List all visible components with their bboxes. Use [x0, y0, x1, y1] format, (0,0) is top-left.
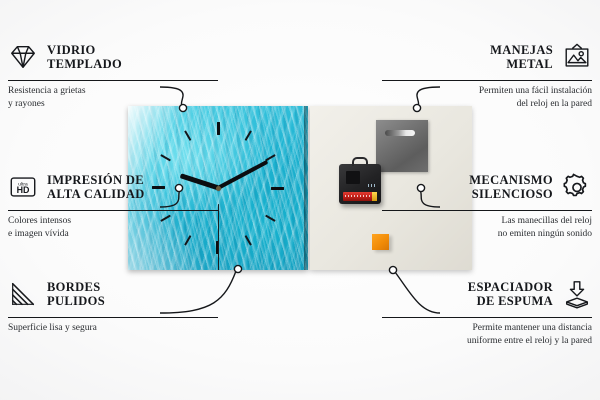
- feature-manejas-metal: MANEJAS METAL Permiten una fácil instala…: [382, 38, 592, 111]
- foam-spacer-icon: [562, 279, 592, 309]
- picture-hanger-icon: [562, 42, 592, 72]
- feature-description: Superficie lisa y segura: [8, 322, 218, 335]
- feature-description: Colores intensos e imagen vívida: [8, 215, 218, 241]
- feature-header: ultra HD IMPRESIÓN DE ALTA CALIDAD: [8, 168, 218, 206]
- feature-header: ESPACIADOR DE ESPUMA: [382, 275, 592, 313]
- feature-title-line2: ALTA CALIDAD: [47, 187, 145, 201]
- feature-title-line2: SILENCIOSO: [472, 187, 553, 201]
- feature-divider: [8, 210, 218, 211]
- feature-title-line1: BORDES: [47, 280, 101, 294]
- feature-title-line2: PULIDOS: [47, 294, 105, 308]
- feature-desc-line1: Superficie lisa y segura: [8, 323, 97, 333]
- feature-title: MANEJAS METAL: [490, 43, 553, 71]
- feature-impresion-alta-calidad: ultra HD IMPRESIÓN DE ALTA CALIDAD Color…: [8, 168, 218, 241]
- feature-description: Permiten una fácil instalación del reloj…: [382, 85, 592, 111]
- feature-desc-line2: e imagen vívida: [8, 229, 69, 239]
- feature-title: BORDES PULIDOS: [47, 280, 105, 308]
- polished-edges-icon: [8, 279, 38, 309]
- feature-divider: [8, 80, 218, 81]
- feature-header: VIDRIO TEMPLADO: [8, 38, 218, 76]
- diamond-icon: [8, 42, 38, 72]
- feature-desc-line2: uniforme entre el reloj y la pared: [467, 336, 592, 346]
- feature-divider: [8, 317, 218, 318]
- feature-mecanismo-silencioso: MECANISMO SILENCIOSO Las manecillas del …: [382, 168, 592, 241]
- feature-title-line2: DE ESPUMA: [477, 294, 553, 308]
- feature-desc-line1: Colores intensos: [8, 216, 71, 226]
- feature-description: Las manecillas del reloj no emiten ningú…: [382, 215, 592, 241]
- feature-bordes-pulidos: BORDES PULIDOS Superficie lisa y segura: [8, 275, 218, 335]
- feature-title-line1: IMPRESIÓN DE: [47, 173, 144, 187]
- infographic-canvas: VIDRIO TEMPLADO Resistencia a grietas y …: [0, 0, 600, 400]
- feature-description: Resistencia a grietas y rayones: [8, 85, 218, 111]
- feature-divider: [382, 80, 592, 81]
- feature-title: ESPACIADOR DE ESPUMA: [468, 280, 553, 308]
- feature-desc-line1: Permiten una fácil instalación: [479, 86, 592, 96]
- feature-title: MECANISMO SILENCIOSO: [469, 173, 553, 201]
- ultra-hd-icon: ultra HD: [8, 172, 38, 202]
- feature-vidrio-templado: VIDRIO TEMPLADO Resistencia a grietas y …: [8, 38, 218, 111]
- feature-desc-line1: Resistencia a grietas: [8, 86, 86, 96]
- svg-text:HD: HD: [17, 185, 30, 195]
- feature-espaciador-espuma: ESPACIADOR DE ESPUMA Permite mantener un…: [382, 275, 592, 348]
- feature-description: Permite mantener una distancia uniforme …: [382, 322, 592, 348]
- feature-title-line1: MECANISMO: [469, 173, 553, 187]
- gear-icon: [562, 172, 592, 202]
- feature-title: IMPRESIÓN DE ALTA CALIDAD: [47, 173, 145, 201]
- feature-title-line1: ESPACIADOR: [468, 280, 553, 294]
- feature-desc-line2: y rayones: [8, 99, 45, 109]
- feature-title: VIDRIO TEMPLADO: [47, 43, 122, 71]
- feature-desc-line2: no emiten ningún sonido: [498, 229, 592, 239]
- feature-header: MECANISMO SILENCIOSO: [382, 168, 592, 206]
- feature-desc-line1: Permite mantener una distancia: [473, 323, 593, 333]
- feature-title-line1: VIDRIO: [47, 43, 96, 57]
- feature-divider: [382, 210, 592, 211]
- feature-title-line2: TEMPLADO: [47, 57, 122, 71]
- feature-header: BORDES PULIDOS: [8, 275, 218, 313]
- connector-dot-spacer: [389, 266, 396, 273]
- connector-dot-edges: [234, 265, 241, 272]
- feature-header: MANEJAS METAL: [382, 38, 592, 76]
- feature-title-line2: METAL: [506, 57, 553, 71]
- feature-desc-line2: del reloj en la pared: [517, 99, 592, 109]
- feature-title-line1: MANEJAS: [490, 43, 553, 57]
- feature-desc-line1: Las manecillas del reloj: [502, 216, 592, 226]
- feature-divider: [382, 317, 592, 318]
